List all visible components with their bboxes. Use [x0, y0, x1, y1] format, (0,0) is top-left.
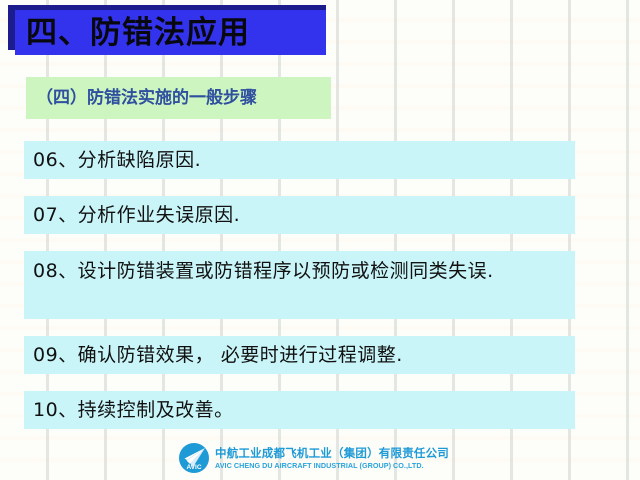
step-item-07: 07、分析作业失误原因.: [33, 203, 578, 228]
slide-canvas: 四、防错法应用 （四）防错法实施的一般步骤 06、分析缺陷原因. 07、分析作业…: [0, 0, 640, 480]
subtitle-label: （四）防错法实施的一般步骤: [36, 77, 336, 119]
page-title: 四、防错法应用: [26, 11, 326, 55]
svg-text:AVIC: AVIC: [186, 464, 201, 471]
avic-logo-icon: AVIC: [178, 442, 210, 474]
company-name-en: AVIC CHENG DU AIRCRAFT INDUSTRIAL (GROUP…: [215, 461, 449, 471]
footer-logo: AVIC 中航工业成都飞机工业（集团）有限责任公司 AVIC CHENG DU …: [178, 441, 478, 475]
logo-text-block: 中航工业成都飞机工业（集团）有限责任公司 AVIC CHENG DU AIRCR…: [215, 446, 449, 471]
step-item-06: 06、分析缺陷原因.: [33, 148, 578, 173]
step-item-09: 09、确认防错效果， 必要时进行过程调整.: [33, 343, 578, 368]
step-item-10: 10、持续控制及改善。: [33, 398, 578, 423]
company-name-cn: 中航工业成都飞机工业（集团）有限责任公司: [215, 446, 449, 460]
step-item-08: 08、设计防错装置或防错程序以预防或检测同类失误.: [33, 255, 571, 288]
